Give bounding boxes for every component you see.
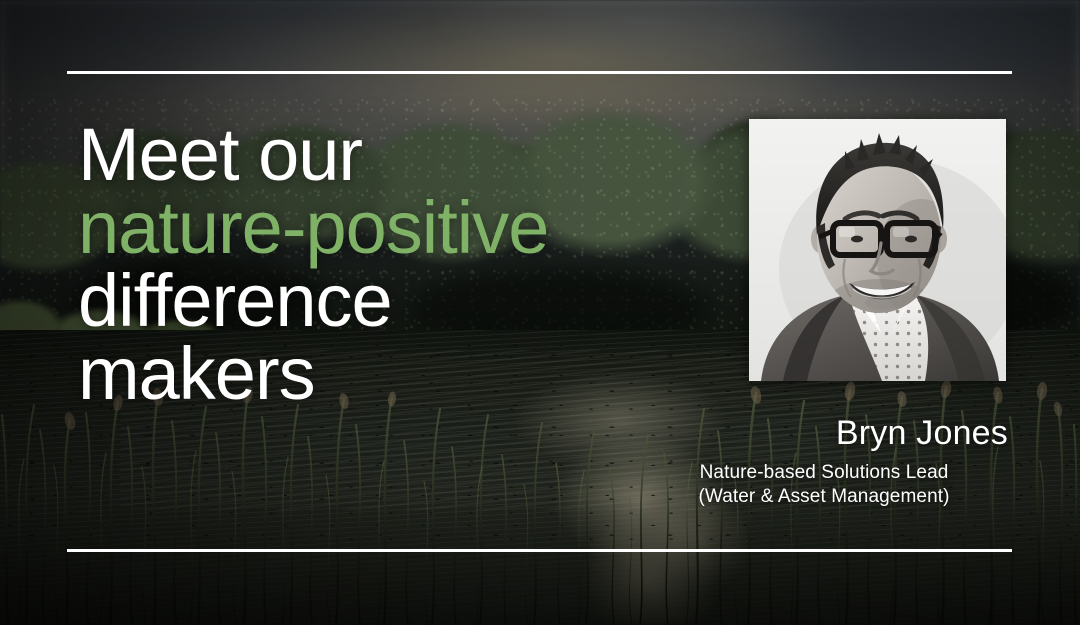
headline-line-4: makers — [78, 337, 548, 410]
top-divider-rule — [67, 71, 1012, 74]
campaign-banner: Meet our nature-positive difference make… — [0, 0, 1080, 625]
bottom-divider-rule — [67, 549, 1012, 552]
person-role-line-2: (Water & Asset Management) — [640, 485, 1008, 509]
person-role: Nature-based Solutions Lead (Water & Ass… — [640, 461, 1008, 509]
portrait-photo — [749, 119, 1006, 381]
headline-line-1: Meet our — [78, 118, 548, 191]
person-name: Bryn Jones — [640, 413, 1008, 453]
person-role-line-1: Nature-based Solutions Lead — [640, 461, 1008, 485]
headline-line-2-accent: nature-positive — [78, 191, 548, 264]
headline: Meet our nature-positive difference make… — [78, 118, 548, 410]
headline-line-3: difference — [78, 264, 548, 337]
person-caption: Bryn Jones Nature-based Solutions Lead (… — [640, 413, 1008, 509]
